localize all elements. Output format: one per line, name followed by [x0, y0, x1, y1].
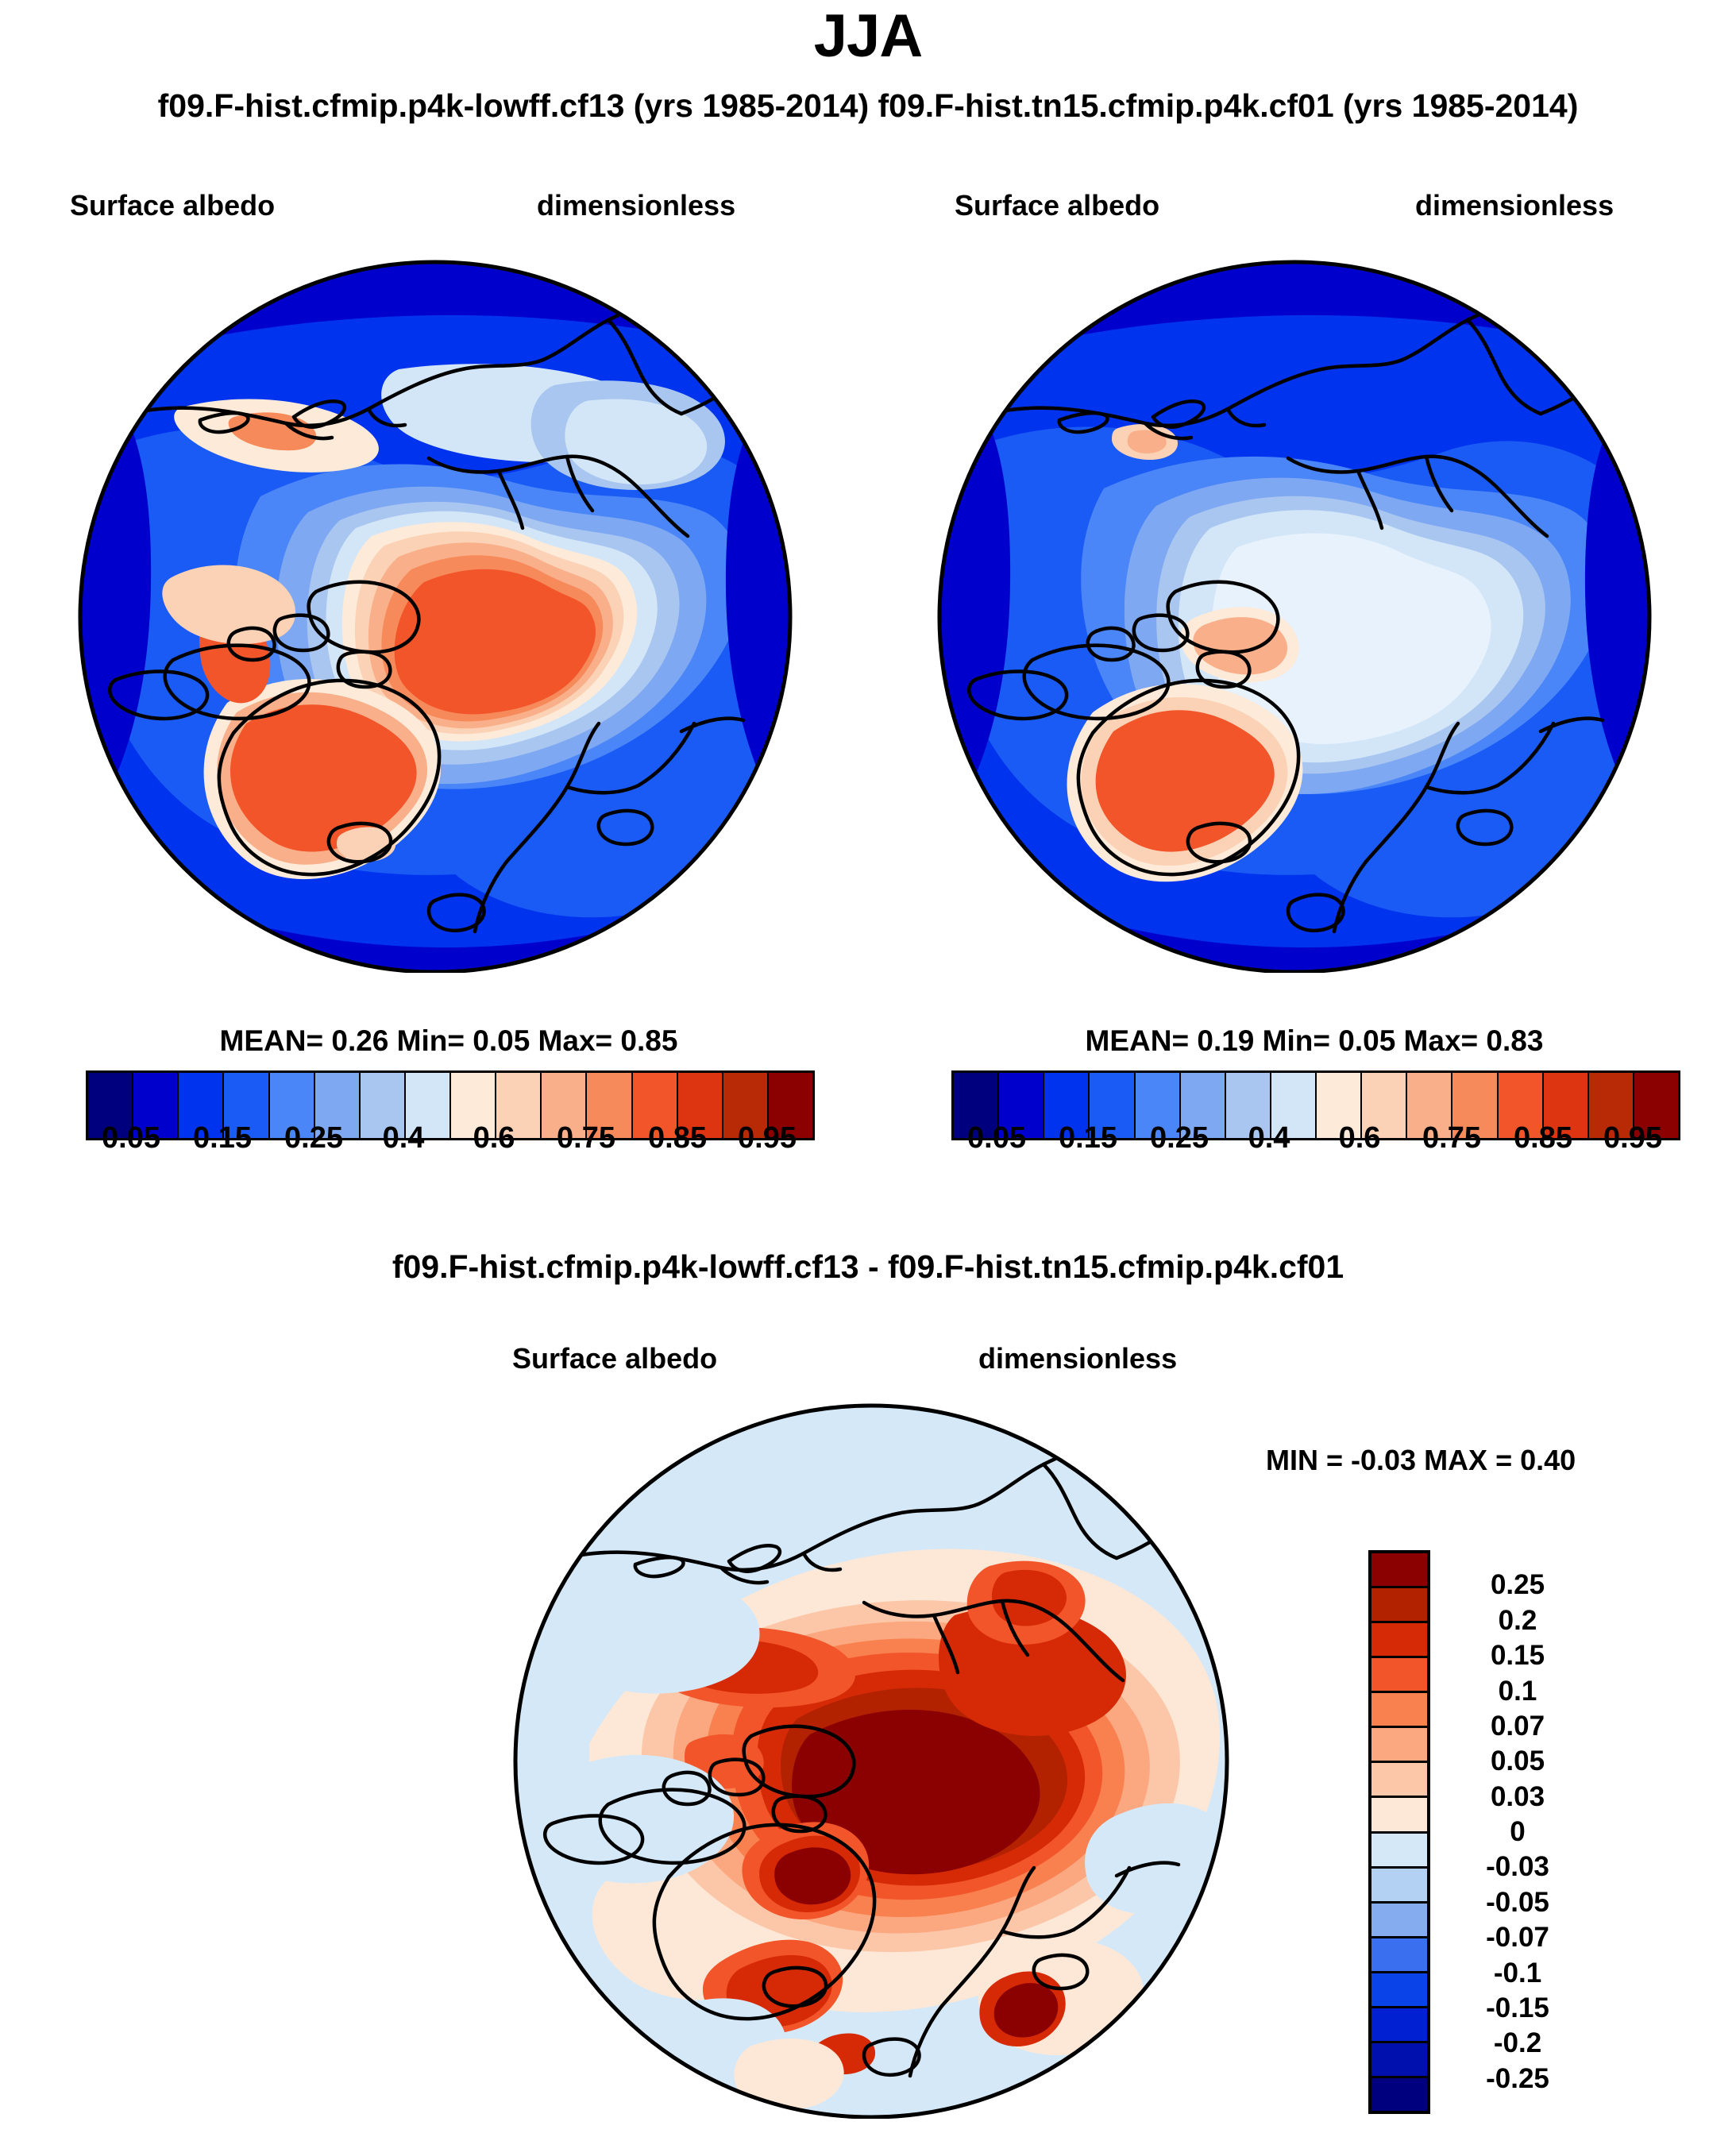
diff-units-label: dimensionless — [978, 1342, 1177, 1375]
map-difference — [513, 1402, 1229, 2119]
left-stats-text: MEAN= 0.26 Min= 0.05 Max= 0.85 — [48, 1024, 850, 1058]
map-left-case — [78, 258, 793, 973]
diff-map-svg — [513, 1402, 1229, 2119]
figure-root: JJA f09.F-hist.cfmip.p4k-lowff.cf13 (yrs… — [0, 0, 1736, 2137]
diff-colorbar-swatches — [1368, 1550, 1430, 2114]
right-units-label: dimensionless — [1415, 189, 1614, 222]
right-stats-text: MEAN= 0.19 Min= 0.05 Max= 0.83 — [913, 1024, 1715, 1058]
difference-title: f09.F-hist.cfmip.p4k-lowff.cf13 - f09.F-… — [0, 1248, 1736, 1286]
right-variable-label: Surface albedo — [955, 189, 1159, 222]
colorbar-difference: 0.25 0.2 0.15 0.1 0.07 0.05 0.03 0 -0.03… — [1368, 1550, 1630, 2114]
left-units-label: dimensionless — [537, 189, 735, 222]
main-title: JJA — [0, 2, 1736, 71]
diff-colorbar-ticks: 0.25 0.2 0.15 0.1 0.07 0.05 0.03 0 -0.03… — [1438, 1550, 1621, 2114]
diff-minmax-text: MIN = -0.03 MAX = 0.40 — [1266, 1444, 1576, 1477]
map-left-svg — [78, 258, 793, 973]
diff-variable-label: Surface albedo — [512, 1342, 717, 1375]
case-subtitle: f09.F-hist.cfmip.p4k-lowff.cf13 (yrs 198… — [0, 87, 1736, 125]
map-right-svg — [937, 258, 1652, 973]
map-right-case — [937, 258, 1652, 973]
left-variable-label: Surface albedo — [70, 189, 275, 222]
